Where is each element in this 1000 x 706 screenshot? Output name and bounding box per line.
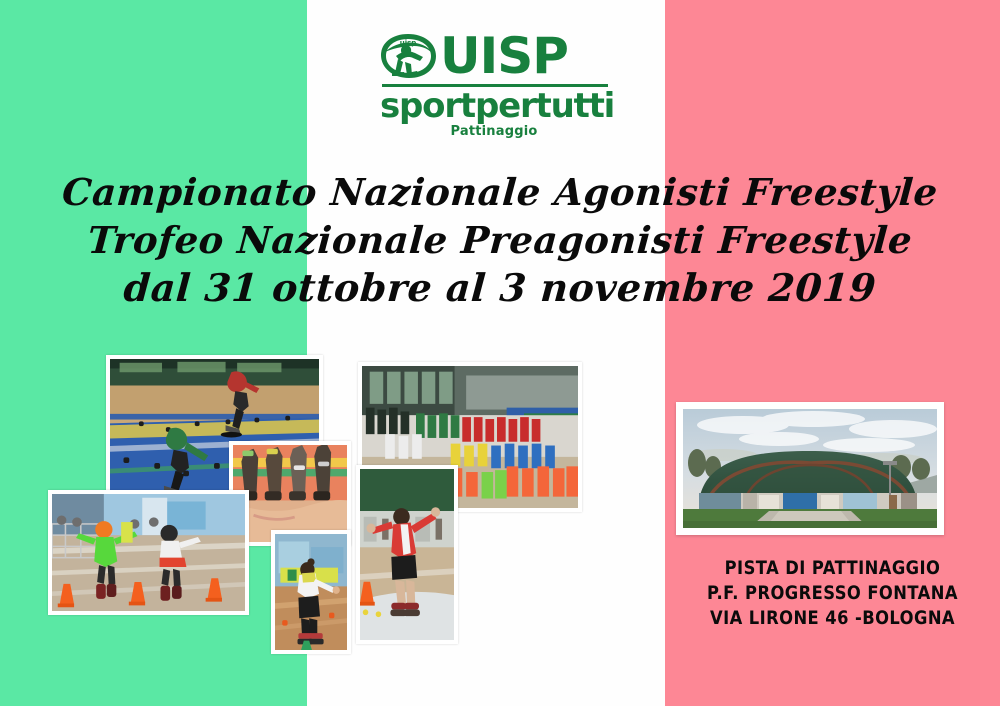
headline-line-1: Campionato Nazionale Agonisti Freestyle bbox=[0, 168, 1000, 216]
venue-address-block: PISTA DI PATTINAGGIO P.F. PROGRESSO FONT… bbox=[688, 556, 976, 631]
photo-venue-dome bbox=[676, 402, 944, 535]
uisp-subtitle: sportpertutti bbox=[380, 86, 610, 126]
photo-girl-cones bbox=[271, 530, 351, 654]
photo-kids-race bbox=[48, 490, 249, 615]
venue-line-3: VIA LIRONE 46 -BOLOGNA bbox=[688, 606, 976, 631]
uisp-logo: uisp UISP sportpertutti Pattinaggio bbox=[378, 32, 610, 140]
photo-collage bbox=[0, 330, 620, 670]
emblem-micro-text: uisp bbox=[400, 39, 417, 47]
headline-block: Campionato Nazionale Agonisti Freestyle … bbox=[0, 168, 1000, 312]
uisp-wordmark: UISP bbox=[440, 30, 568, 82]
poster: uisp UISP sportpertutti Pattinaggio Camp… bbox=[0, 0, 1000, 706]
photo-boy-red bbox=[356, 465, 458, 644]
uisp-running-figure-emblem: uisp bbox=[378, 32, 438, 84]
headline-line-3: dal 31 ottobre al 3 novembre 2019 bbox=[0, 264, 1000, 312]
venue-line-2: P.F. PROGRESSO FONTANA bbox=[688, 581, 976, 606]
headline-line-2: Trofeo Nazionale Preagonisti Freestyle bbox=[0, 216, 1000, 264]
uisp-discipline-label: Pattinaggio bbox=[378, 124, 610, 139]
venue-line-1: PISTA DI PATTINAGGIO bbox=[688, 556, 976, 581]
